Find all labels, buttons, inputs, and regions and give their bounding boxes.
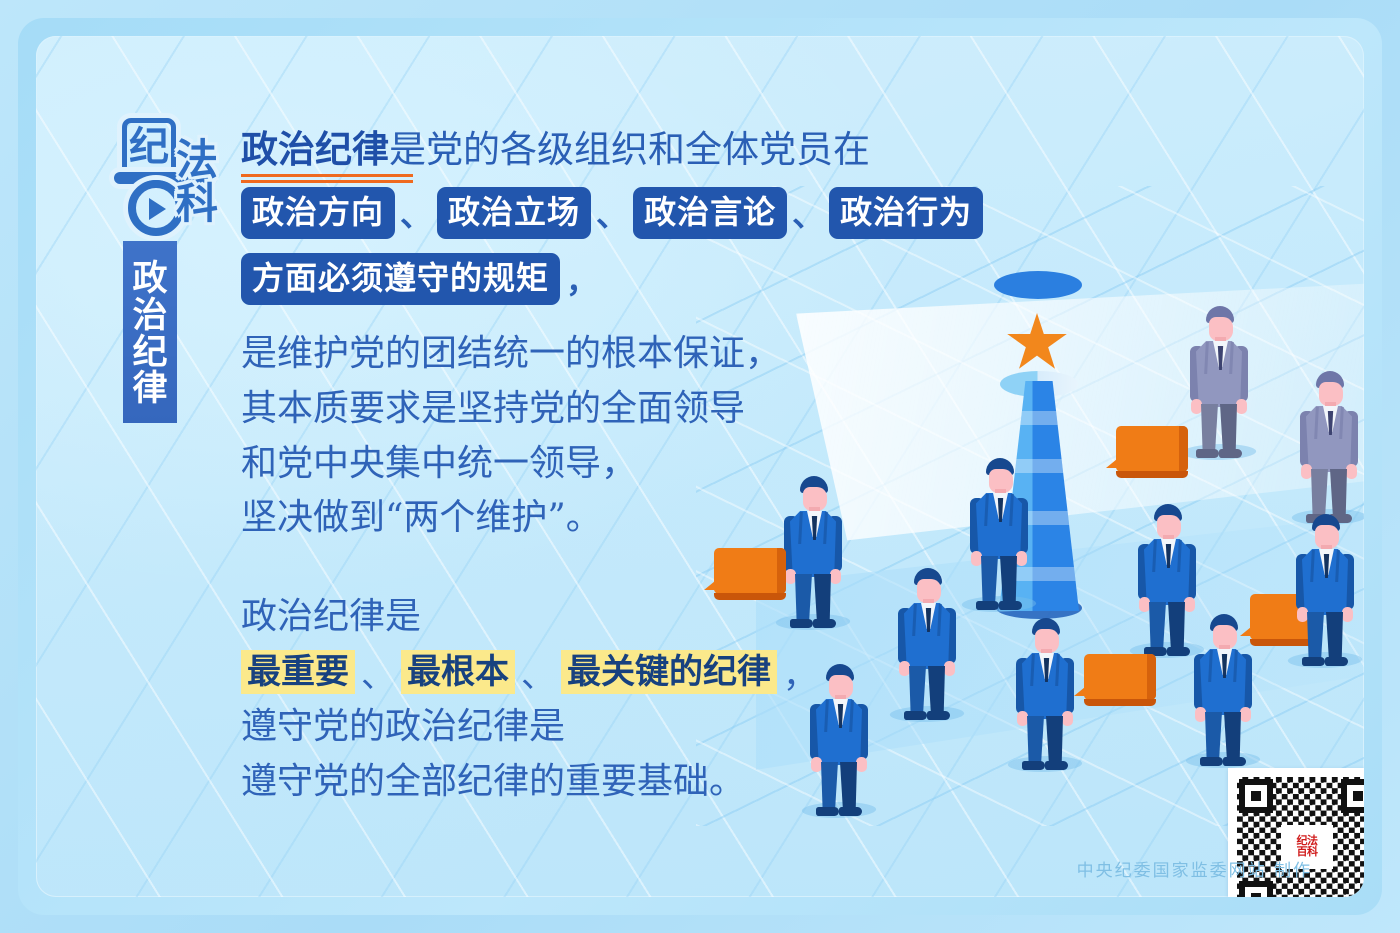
pill-political-speech: 政治言论 — [633, 187, 787, 239]
person-figure-near — [1014, 618, 1076, 768]
beacon-top-disc — [994, 271, 1082, 299]
briefcase-icon — [1116, 426, 1188, 472]
paragraph-1-line: 其本质要求是坚持党的全面领导 — [241, 382, 1001, 437]
figure-shoe-right — [1325, 657, 1348, 666]
poster-root: 纪 法 科 政 治 纪 律 政治纪律是党的各级组织和全体党员在 政治方向 、 政… — [0, 0, 1400, 933]
paragraph-2-line: 遵守党的政治纪律是 — [241, 700, 1001, 755]
figure-hand-left — [1195, 707, 1206, 722]
paragraph-1-line: 和党中央集中统一领导， — [241, 437, 1001, 492]
highlight-row: 最重要 、 最根本 、 最关键的纪律 ， — [241, 648, 1001, 697]
highlight-most-fundamental: 最根本 — [401, 650, 515, 694]
figure-shoe-left — [1200, 757, 1223, 766]
brand-logo: 纪 法 科 — [114, 118, 234, 248]
qr-finder-top-right — [1341, 779, 1364, 813]
person-figure-near — [1294, 514, 1356, 664]
briefcase-side — [1179, 426, 1188, 472]
pill-separator: 、 — [591, 190, 633, 236]
paragraph-1-line: 坚决做到“两个维护”。 — [241, 491, 1001, 546]
highlight-most-important: 最重要 — [241, 650, 355, 694]
pill-political-standpoint: 政治立场 — [437, 187, 591, 239]
pill-political-direction: 政治方向 — [241, 187, 395, 239]
figure-hand-right — [1342, 607, 1353, 622]
figure-hand-left — [1191, 399, 1202, 414]
frame-inner: 纪 法 科 政 治 纪 律 政治纪律是党的各级组织和全体党员在 政治方向 、 政… — [36, 36, 1364, 897]
paragraph-2-intro: 政治纪律是 — [241, 590, 1001, 645]
pill-row-1: 政治方向 、 政治立场 、 政治言论 、 政治行为 — [241, 187, 1001, 239]
paragraph-1-line: 是维护党的团结统一的根本保证， — [241, 327, 1001, 382]
pill-separator: 、 — [787, 190, 829, 236]
paragraph-1: 是维护党的团结统一的根本保证， 其本质要求是坚持党的全面领导 和党中央集中统一领… — [241, 327, 1001, 546]
pill-separator: 、 — [395, 190, 437, 236]
briefcase-icon — [1084, 654, 1156, 700]
figure-hand-right — [1062, 711, 1073, 726]
beacon-band — [999, 411, 1079, 425]
figure-shoe-right — [1045, 761, 1068, 770]
qr-finder-bottom-left — [1239, 881, 1273, 897]
text-column: 政治纪律是党的各级组织和全体党员在 政治方向 、 政治立场 、 政治言论 、 政… — [241, 126, 1001, 809]
highlight-separator: 、 — [355, 648, 401, 697]
figure-hand-right — [1016, 551, 1027, 566]
figure-hand-left — [1301, 464, 1312, 479]
figure-shoe-right — [999, 601, 1022, 610]
person-figure-far — [1298, 371, 1360, 521]
figure-hand-left — [1139, 597, 1150, 612]
lead-rest: 是党的各级组织和全体党员在 — [389, 128, 870, 171]
figure-hand-right — [1184, 597, 1195, 612]
person-figure-near — [1192, 614, 1254, 764]
person-figure-far — [1188, 306, 1250, 456]
vbanner-char: 治 — [132, 298, 167, 334]
figure-hand-left — [1297, 607, 1308, 622]
highlight-most-crucial: 最关键的纪律 — [561, 650, 777, 694]
figure-lapel — [1152, 540, 1182, 572]
vbanner-char: 纪 — [132, 335, 167, 371]
vbanner-char: 律 — [132, 371, 167, 407]
figure-shoe-left — [1022, 761, 1045, 770]
keyword-double-underline — [241, 174, 413, 183]
figure-hand-right — [1236, 399, 1247, 414]
figure-lapel — [1310, 550, 1340, 582]
figure-hand-right — [1346, 464, 1357, 479]
figure-shoe-left — [1302, 657, 1325, 666]
pill-trailing-comma: ， — [560, 256, 598, 302]
figure-lapel — [1314, 407, 1344, 439]
lead-keyword: 政治纪律 — [241, 127, 389, 171]
figure-shoe-right — [1223, 757, 1246, 766]
figure-hand-left — [1017, 711, 1028, 726]
highlight-trailing-comma: ， — [777, 648, 823, 697]
logo-char-fa: 法 — [176, 140, 218, 180]
vertical-title-banner: 政 治 纪 律 — [123, 241, 177, 423]
figure-hand-right — [1240, 707, 1251, 722]
paragraph-2-line: 遵守党的全部纪律的重要基础。 — [241, 755, 1001, 810]
figure-shoe-right — [1219, 449, 1242, 458]
logo-char-ji: 纪 — [127, 123, 171, 171]
person-figure-near — [1136, 504, 1198, 654]
figure-lapel — [1030, 654, 1060, 686]
paragraph-2: 政治纪律是 最重要 、 最根本 、 最关键的纪律 ， 遵守党的政治纪律是 遵守党… — [241, 590, 1001, 809]
play-triangle-icon — [149, 198, 166, 220]
logo-char-ji-box: 纪 — [122, 118, 176, 176]
orange-star-icon — [1006, 313, 1068, 373]
vbanner-char: 政 — [132, 261, 167, 297]
pill-row-2: 方面必须遵守的规矩 ， — [241, 253, 1001, 305]
lead-line: 政治纪律是党的各级组织和全体党员在 — [241, 126, 1001, 173]
briefcase-bottom — [1084, 699, 1156, 706]
figure-shoe-left — [1196, 449, 1219, 458]
figure-lapel — [1208, 650, 1238, 682]
qr-finder-top-left — [1239, 779, 1273, 813]
figure-shoe-right — [1167, 647, 1190, 656]
highlight-separator: 、 — [515, 648, 561, 697]
pill-rules-to-observe: 方面必须遵守的规矩 — [241, 253, 560, 305]
footer-credit: 中央纪委国家监委网站 制作 — [1077, 856, 1312, 881]
figure-lapel — [1204, 342, 1234, 374]
logo-char-ke: 科 — [176, 184, 218, 224]
pill-political-behavior: 政治行为 — [829, 187, 983, 239]
briefcase-bottom — [1116, 471, 1188, 478]
briefcase-side — [1147, 654, 1156, 700]
